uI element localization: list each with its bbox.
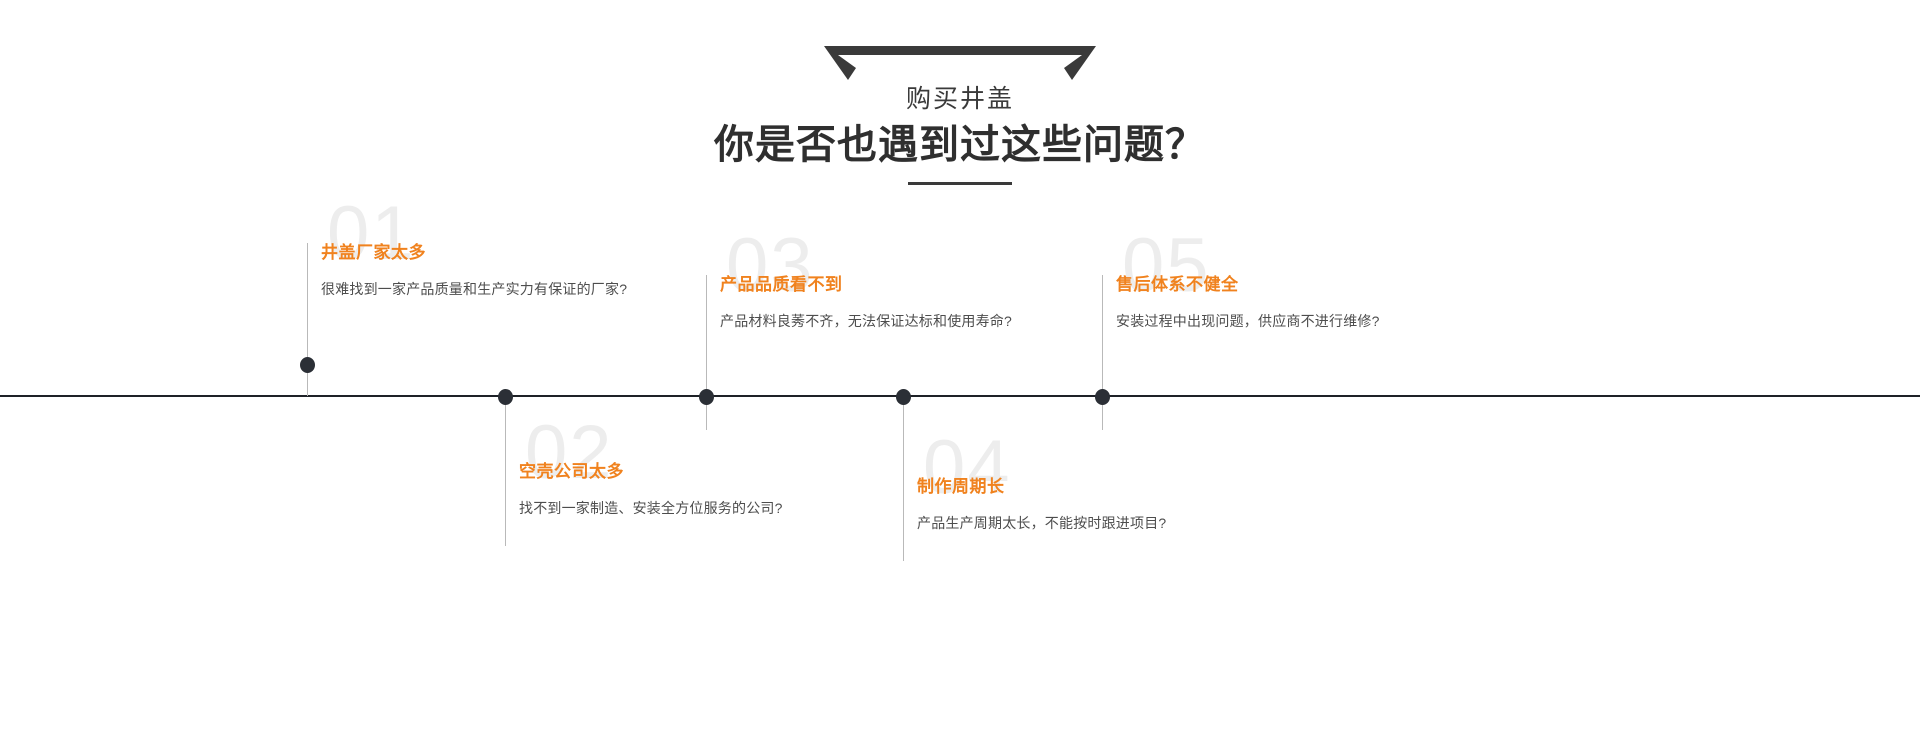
timeline-dot-01[interactable]: [300, 357, 315, 373]
connector-stem-05: [1102, 275, 1103, 430]
card-title-04: 制作周期长: [917, 476, 1247, 498]
timeline-card-01: 01 井盖厂家太多 很难找到一家产品质量和生产实力有保证的厂家?: [321, 196, 651, 346]
timeline-card-05: 05 售后体系不健全 安装过程中出现问题，供应商不进行维修?: [1116, 228, 1446, 378]
timeline-dot-03[interactable]: [699, 389, 714, 405]
card-text-03: 产品材料良莠不齐，无法保证达标和使用寿命?: [720, 306, 1050, 336]
timeline-card-02: 02 空壳公司太多 找不到一家制造、安装全方位服务的公司?: [519, 415, 849, 565]
card-title-01: 井盖厂家太多: [321, 242, 651, 264]
card-title-02: 空壳公司太多: [519, 461, 849, 483]
card-text-01: 很难找到一家产品质量和生产实力有保证的厂家?: [321, 274, 651, 304]
card-body-03: 产品品质看不到 产品材料良莠不齐，无法保证达标和使用寿命?: [720, 274, 1050, 336]
infographic-canvas: 购买井盖 你是否也遇到过这些问题？ 01 井盖厂家太多 很难找到一家产品质量和生…: [0, 0, 1920, 739]
card-title-03: 产品品质看不到: [720, 274, 1050, 296]
card-text-05: 安装过程中出现问题，供应商不进行维修?: [1116, 306, 1446, 336]
timeline-dot-02[interactable]: [498, 389, 513, 405]
page-title: 你是否也遇到过这些问题？: [714, 118, 1206, 172]
connector-stem-02: [505, 396, 506, 546]
card-body-02: 空壳公司太多 找不到一家制造、安装全方位服务的公司?: [519, 461, 849, 523]
connector-stem-01: [307, 243, 308, 396]
connector-stem-04: [903, 396, 904, 561]
timeline-dot-05[interactable]: [1095, 389, 1110, 405]
title-underline: [908, 182, 1012, 185]
card-body-04: 制作周期长 产品生产周期太长，不能按时跟进项目?: [917, 476, 1247, 538]
bracket-top-icon: [824, 46, 1096, 80]
timeline-card-04: 04 制作周期长 产品生产周期太长，不能按时跟进项目?: [917, 430, 1247, 580]
header-subtitle: 购买井盖: [906, 82, 1014, 116]
timeline-dot-04[interactable]: [896, 389, 911, 405]
card-text-04: 产品生产周期太长，不能按时跟进项目?: [917, 508, 1247, 538]
card-title-05: 售后体系不健全: [1116, 274, 1446, 296]
card-text-02: 找不到一家制造、安装全方位服务的公司?: [519, 493, 849, 523]
card-body-05: 售后体系不健全 安装过程中出现问题，供应商不进行维修?: [1116, 274, 1446, 336]
timeline-card-03: 03 产品品质看不到 产品材料良莠不齐，无法保证达标和使用寿命?: [720, 228, 1050, 378]
timeline-axis: [0, 395, 1920, 397]
connector-stem-03: [706, 275, 707, 430]
card-body-01: 井盖厂家太多 很难找到一家产品质量和生产实力有保证的厂家?: [321, 242, 651, 304]
